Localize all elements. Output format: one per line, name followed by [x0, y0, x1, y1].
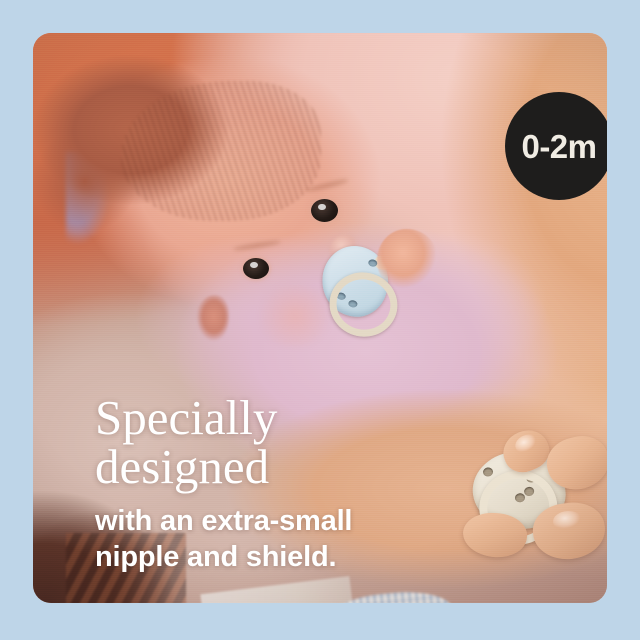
subtext-line-2: nipple and shield.	[95, 540, 515, 575]
subtext: with an extra-small nipple and shield.	[95, 504, 515, 575]
headline-line-1: Specially	[95, 394, 515, 443]
headline-line-2: designed	[95, 443, 515, 492]
headline: Specially designed	[95, 394, 515, 491]
age-range-badge-label: 0-2m	[521, 130, 596, 163]
product-lifestyle-photo: 0-2m Specially designed with an extra-sm…	[33, 33, 607, 603]
age-range-badge: 0-2m	[505, 92, 607, 200]
subtext-line-1: with an extra-small	[95, 504, 515, 539]
marketing-copy: Specially designed with an extra-small n…	[95, 394, 515, 575]
poster-canvas: 0-2m Specially designed with an extra-sm…	[0, 0, 640, 640]
